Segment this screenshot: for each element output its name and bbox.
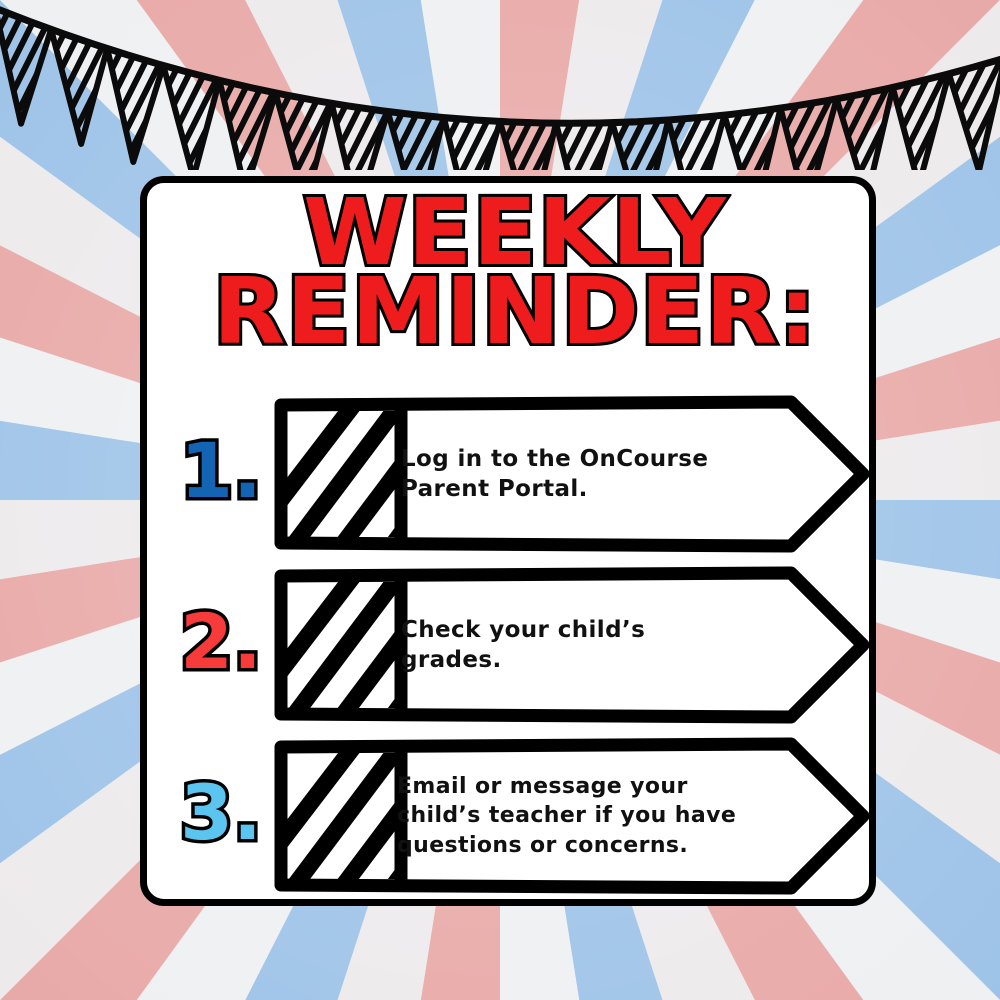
step-number-2: 2. [173,604,269,680]
step-text-3: Email or message your child’s teacher if… [397,737,817,895]
bunting-banner [0,0,1000,170]
step-text-3-line-2: child’s teacher if you have [397,801,817,830]
weekly-reminder-poster: WEEKLY REMINDER: 1. [0,0,1000,1000]
step-text-3-line-3: questions or concerns. [397,831,817,860]
page-title: WEEKLY REMINDER: [147,191,883,354]
step-number-3: 3. [173,775,269,851]
reminder-steps-list: 1. [159,395,871,908]
title-line-weekly: WEEKLY [140,191,891,276]
step-text-1-line-2: Parent Portal. [401,474,801,504]
step-text-2: Check your child’s grades. [401,566,801,724]
step-text-2-line-2: grades. [401,645,801,675]
list-item: 1. [159,395,871,561]
step-number-1: 1. [173,433,269,509]
list-item: 3. [159,737,871,903]
list-item: 2. [159,566,871,732]
step-text-3-line-1: Email or message your [397,772,817,801]
step-text-1: Log in to the OnCourse Parent Portal. [401,395,801,553]
title-line-reminder: REMINDER: [140,270,891,355]
reminder-card: WEEKLY REMINDER: 1. [140,176,876,906]
step-text-2-line-1: Check your child’s [401,615,801,645]
step-text-1-line-1: Log in to the OnCourse [401,444,801,474]
